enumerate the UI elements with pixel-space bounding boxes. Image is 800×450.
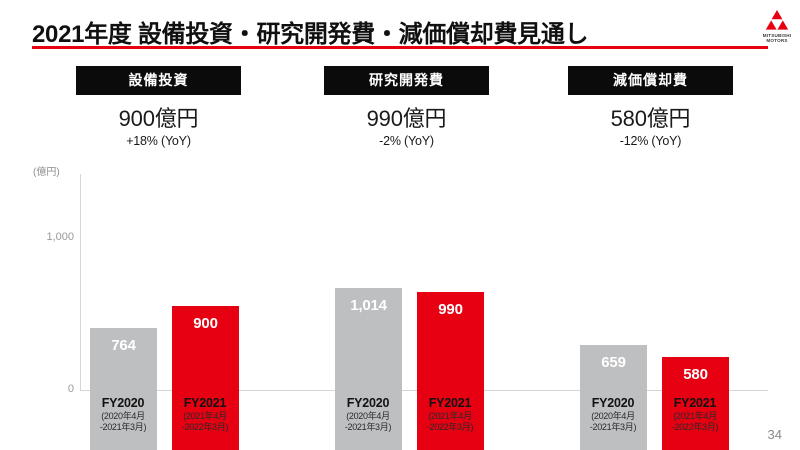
x-axis-period-rnd-fy2020: (2020年4月 -2021年3月) xyxy=(323,411,413,433)
kpi-rnd-label: 研究開発費 xyxy=(324,66,489,95)
y-axis-tick-1000: 1,000 xyxy=(30,231,74,243)
x-axis-fy-capex-fy2020: FY2020 xyxy=(78,396,168,410)
slide-root: 2021年度 設備投資・研究開発費・減価償却費見通し MITSUBISHI MO… xyxy=(0,0,800,450)
x-axis-period-line2: -2022年3月) xyxy=(160,422,250,433)
x-axis-label-rnd-fy2020: FY2020 (2020年4月 -2021年3月) xyxy=(323,396,413,433)
x-axis-period-line1: (2021年4月 xyxy=(650,411,740,422)
x-axis-period-line1: (2020年4月 xyxy=(78,411,168,422)
x-axis-period-line2: -2021年3月) xyxy=(78,422,168,433)
bar-label-capex-fy2020: 764 xyxy=(90,337,157,354)
x-axis-fy-rnd-fy2020: FY2020 xyxy=(323,396,413,410)
x-axis-fy-rnd-fy2021: FY2021 xyxy=(405,396,495,410)
x-axis-period-line1: (2020年4月 xyxy=(568,411,658,422)
kpi-capex-value: 900億円 xyxy=(76,101,241,133)
kpi-depreciation-value: 580億円 xyxy=(568,101,733,133)
logo-wordmark-line2: MOTORS xyxy=(755,38,799,43)
bar-label-capex-fy2021: 900 xyxy=(172,315,239,332)
logo-wordmark: MITSUBISHI MOTORS xyxy=(755,33,799,44)
bar-label-depreciation-fy2020: 659 xyxy=(580,354,647,371)
x-axis-period-line2: -2022年3月) xyxy=(405,422,495,433)
kpi-capex-label: 設備投資 xyxy=(76,66,241,95)
kpi-rnd: 研究開発費 990億円 -2% (YoY) xyxy=(324,66,489,148)
kpi-rnd-value: 990億円 xyxy=(324,101,489,133)
x-axis-fy-depreciation-fy2021: FY2021 xyxy=(650,396,740,410)
page-number: 34 xyxy=(768,427,782,442)
x-axis-label-rnd-fy2021: FY2021 (2021年4月 -2022年3月) xyxy=(405,396,495,433)
x-axis-period-capex-fy2021: (2021年4月 -2022年3月) xyxy=(160,411,250,433)
kpi-depreciation-yoy: -12% (YoY) xyxy=(568,134,733,148)
kpi-capex: 設備投資 900億円 +18% (YoY) xyxy=(76,66,241,148)
x-axis-label-capex-fy2020: FY2020 (2020年4月 -2021年3月) xyxy=(78,396,168,433)
x-axis-label-depreciation-fy2020: FY2020 (2020年4月 -2021年3月) xyxy=(568,396,658,433)
title-divider-rule xyxy=(32,46,768,49)
x-axis-period-line1: (2020年4月 xyxy=(323,411,413,422)
x-axis-period-rnd-fy2021: (2021年4月 -2022年3月) xyxy=(405,411,495,433)
kpi-rnd-yoy: -2% (YoY) xyxy=(324,134,489,148)
x-axis-period-line2: -2022年3月) xyxy=(650,422,740,433)
page-title: 2021年度 設備投資・研究開発費・減価償却費見通し xyxy=(32,14,588,49)
x-axis-label-capex-fy2021: FY2021 (2021年4月 -2022年3月) xyxy=(160,396,250,433)
x-axis-period-line1: (2021年4月 xyxy=(405,411,495,422)
y-axis-tick-0: 0 xyxy=(30,383,74,395)
bar-label-depreciation-fy2021: 580 xyxy=(662,366,729,383)
bar-chart: (億円) 1,000 0 764 900 1,014 990 659 580 xyxy=(0,150,800,450)
bar-label-rnd-fy2020: 1,014 xyxy=(335,297,402,314)
x-axis-fy-depreciation-fy2020: FY2020 xyxy=(568,396,658,410)
y-axis-line xyxy=(80,174,81,390)
kpi-capex-yoy: +18% (YoY) xyxy=(76,134,241,148)
x-axis-period-depreciation-fy2020: (2020年4月 -2021年3月) xyxy=(568,411,658,433)
bar-label-rnd-fy2021: 990 xyxy=(417,301,484,318)
x-axis-fy-capex-fy2021: FY2021 xyxy=(160,396,250,410)
kpi-depreciation-label: 減価償却費 xyxy=(568,66,733,95)
x-axis-period-line2: -2021年3月) xyxy=(323,422,413,433)
x-axis-period-line2: -2021年3月) xyxy=(568,422,658,433)
kpi-depreciation: 減価償却費 580億円 -12% (YoY) xyxy=(568,66,733,148)
x-axis-period-capex-fy2020: (2020年4月 -2021年3月) xyxy=(78,411,168,433)
x-axis-label-depreciation-fy2021: FY2021 (2021年4月 -2022年3月) xyxy=(650,396,740,433)
y-axis-unit-label: (億円) xyxy=(33,163,60,178)
x-axis-period-depreciation-fy2021: (2021年4月 -2022年3月) xyxy=(650,411,740,433)
x-axis-period-line1: (2021年4月 xyxy=(160,411,250,422)
